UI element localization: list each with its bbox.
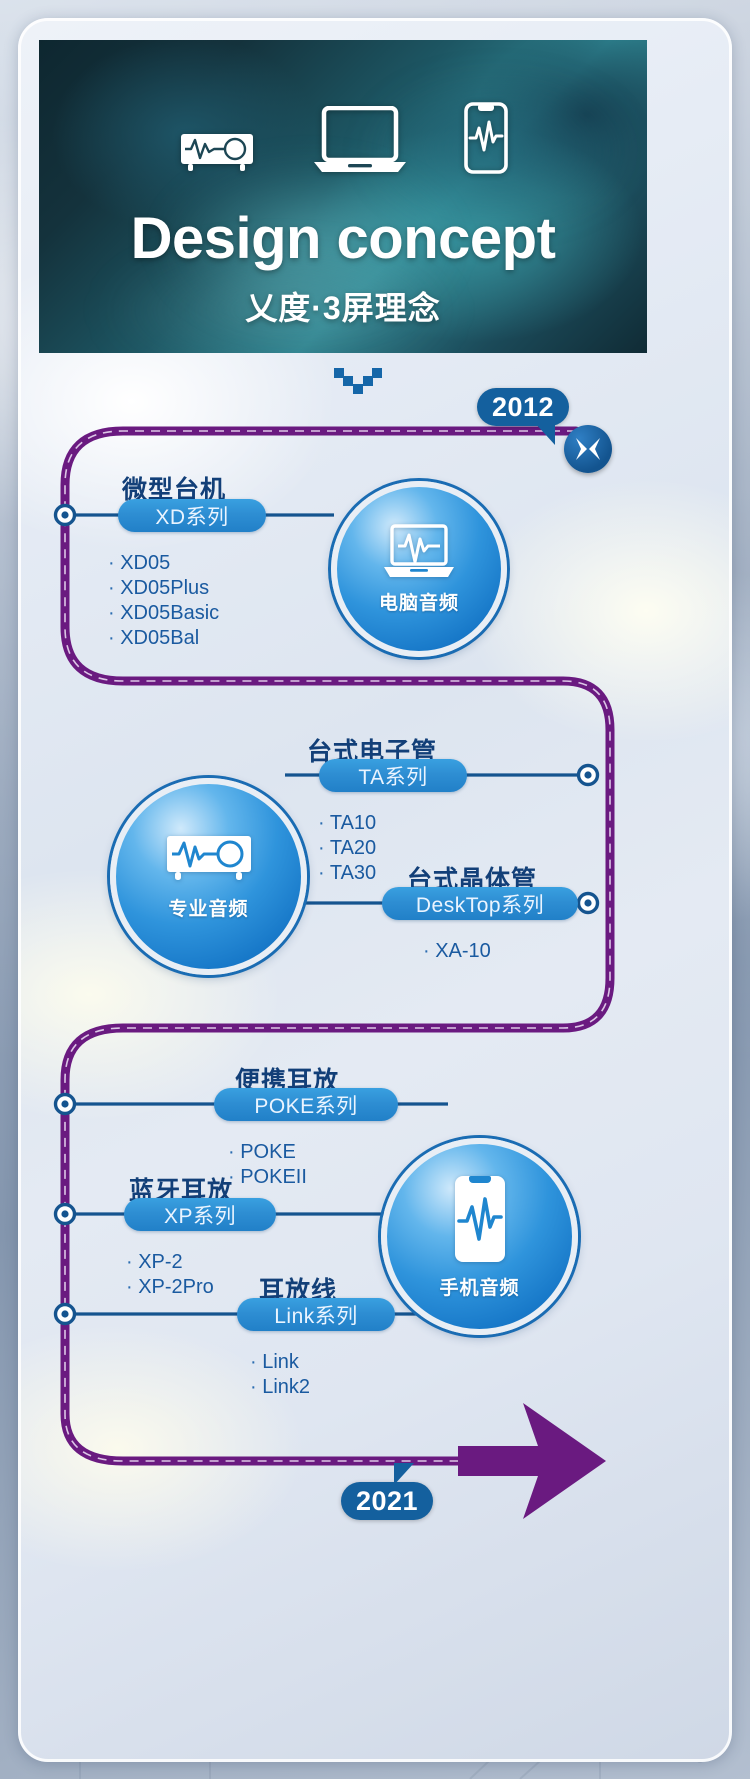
product-item: XP-2 — [126, 1250, 214, 1275]
feature-circle-phone-audio[interactable]: 手机音频 — [381, 1138, 578, 1335]
product-item: POKEII — [228, 1165, 307, 1190]
x-logo-node — [564, 425, 612, 473]
product-item: TA20 — [318, 836, 376, 861]
product-item: XA-10 — [423, 939, 491, 964]
series-pill-xd[interactable]: XD系列 — [118, 499, 266, 532]
product-item: XD05Bal — [108, 626, 219, 651]
series-pill-desktop[interactable]: DeskTop系列 — [382, 887, 578, 920]
laptop-icon — [312, 106, 408, 174]
product-item: POKE — [228, 1140, 307, 1165]
product-item: Link — [250, 1350, 310, 1375]
product-item: XD05 — [108, 551, 219, 576]
circle-label: 专业音频 — [168, 894, 248, 921]
smartphone-icon — [464, 102, 508, 174]
product-list-poke: POKE POKEII — [228, 1140, 307, 1190]
hero-subtitle: 乂度·3屏理念 — [39, 283, 647, 329]
laptop-audio-icon — [382, 524, 456, 580]
feature-circle-pro-audio[interactable]: 专业音频 — [110, 778, 307, 975]
projector-icon — [178, 128, 256, 174]
year-start-label: 2012 — [492, 392, 554, 423]
circle-label: 手机音频 — [439, 1273, 519, 1300]
hero-icon-row — [39, 102, 647, 174]
series-pill-link[interactable]: Link系列 — [237, 1298, 395, 1331]
feature-circle-pc-audio[interactable]: 电脑音频 — [331, 481, 507, 657]
series-pill-xp[interactable]: XP系列 — [124, 1198, 276, 1231]
hero-title: Design concept — [39, 210, 647, 268]
phone-audio-icon — [452, 1173, 508, 1265]
poster-background: Design concept 乂度·3屏理念 — [0, 0, 750, 1779]
badge-tail — [526, 423, 555, 445]
product-item: TA30 — [318, 861, 376, 886]
product-item: TA10 — [318, 811, 376, 836]
year-end-label: 2021 — [356, 1486, 418, 1517]
projector-audio-icon — [163, 832, 255, 886]
product-list-xd: XD05 XD05Plus XD05Basic XD05Bal — [108, 551, 219, 651]
product-item: XP-2Pro — [126, 1275, 214, 1300]
pixel-v-logo-icon — [328, 366, 388, 398]
product-item: Link2 — [250, 1375, 310, 1400]
product-list-ta: TA10 TA20 TA30 — [318, 811, 376, 886]
year-badge-end: 2021 — [341, 1482, 433, 1520]
product-list-desktop: XA-10 — [423, 939, 491, 964]
product-item: XD05Plus — [108, 576, 219, 601]
circle-label: 电脑音频 — [379, 588, 459, 615]
product-item: XD05Basic — [108, 601, 219, 626]
badge-tail — [394, 1463, 423, 1485]
series-pill-poke[interactable]: POKE系列 — [214, 1088, 398, 1121]
hero-banner: Design concept 乂度·3屏理念 — [39, 40, 647, 353]
year-badge-start: 2012 — [477, 388, 569, 426]
poster-card: Design concept 乂度·3屏理念 — [18, 18, 732, 1762]
x-logo-icon — [573, 436, 603, 462]
product-list-xp: XP-2 XP-2Pro — [126, 1250, 214, 1300]
product-list-link: Link Link2 — [250, 1350, 310, 1400]
series-pill-ta[interactable]: TA系列 — [319, 759, 467, 792]
